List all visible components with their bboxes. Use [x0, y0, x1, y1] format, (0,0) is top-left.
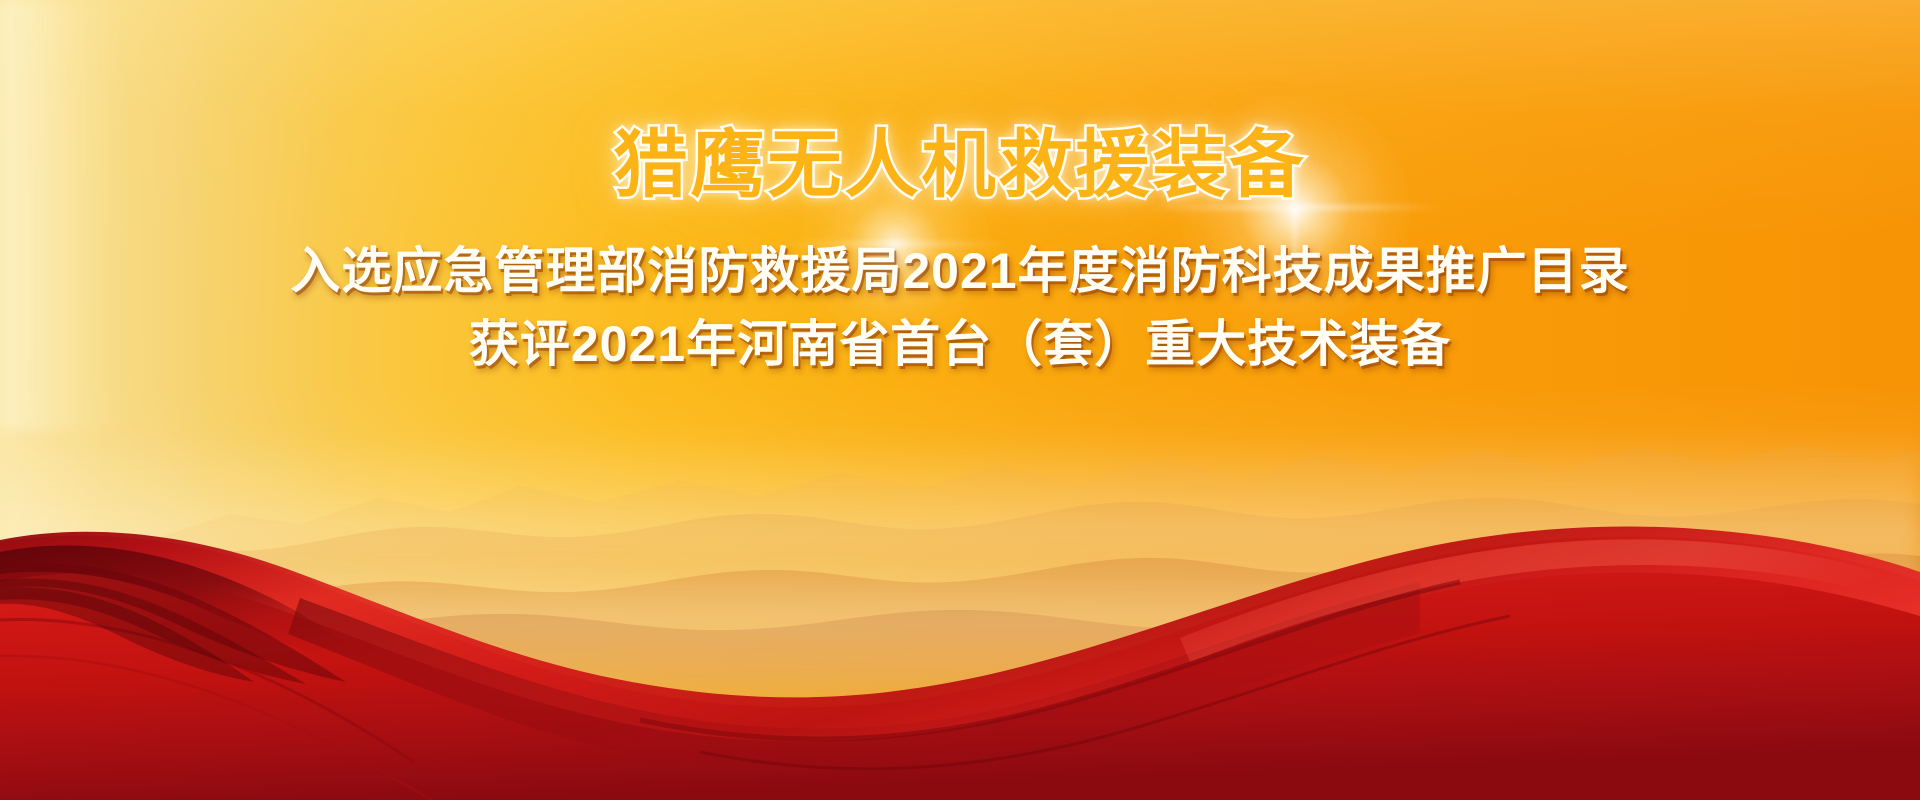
banner-main-title: 猎鹰无人机救援装备 — [0, 0, 1920, 202]
red-silk-ribbon — [0, 470, 1920, 800]
banner-text-block: 猎鹰无人机救援装备 入选应急管理部消防救援局2021年度消防科技成果推广目录 获… — [0, 0, 1920, 376]
banner-subtitle-line-1: 入选应急管理部消防救援局2021年度消防科技成果推广目录 — [0, 202, 1920, 303]
promo-banner: 猎鹰无人机救援装备 入选应急管理部消防救援局2021年度消防科技成果推广目录 获… — [0, 0, 1920, 800]
banner-subtitle-line-2: 获评2021年河南省首台（套）重大技术装备 — [0, 303, 1920, 376]
